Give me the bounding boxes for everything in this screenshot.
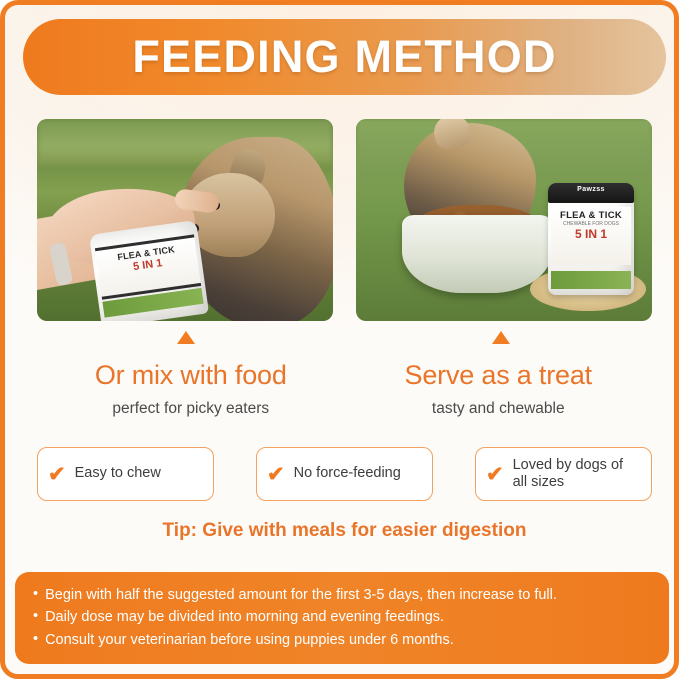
feature-chip-no-force-feeding: ✔ No force-feeding xyxy=(256,447,433,501)
jar-brand: Pawzss xyxy=(548,186,634,193)
subhead-mix-with-food: perfect for picky eaters xyxy=(37,400,345,418)
page-title: FEEDING METHOD xyxy=(132,31,556,83)
headline-column-right: Serve as a treat tasty and chewable xyxy=(345,360,653,418)
feature-chip-loved-by-dogs: ✔ Loved by dogs of all sizes xyxy=(475,447,652,501)
footer-note-line: • Consult your veterinarian before using… xyxy=(33,629,651,651)
feature-chip-label: No force-feeding xyxy=(294,465,401,482)
feeding-method-poster: FEEDING METHOD FLEA & TICK 5 IN 1 xyxy=(0,0,679,679)
headline-mix-with-food: Or mix with food xyxy=(37,360,345,391)
footer-note-line: • Daily dose may be divided into morning… xyxy=(33,606,651,628)
photo-row: FLEA & TICK 5 IN 1 Pawzss FLEA & TICK CH… xyxy=(37,119,652,321)
supplement-jar: FLEA & TICK 5 IN 1 xyxy=(89,220,209,321)
bullet-icon: • xyxy=(33,629,38,650)
bullet-icon: • xyxy=(33,584,38,605)
feature-chip-label: Loved by dogs of all sizes xyxy=(513,457,641,492)
check-icon: ✔ xyxy=(486,464,504,485)
feature-chip-easy-to-chew: ✔ Easy to chew xyxy=(37,447,214,501)
subhead-serve-as-treat: tasty and chewable xyxy=(345,400,653,418)
footer-note-line: • Begin with half the suggested amount f… xyxy=(33,584,651,606)
tip-text: Tip: Give with meals for easier digestio… xyxy=(5,520,679,542)
hand-feeding-photo: FLEA & TICK 5 IN 1 xyxy=(37,119,333,321)
footer-note-text: Begin with half the suggested amount for… xyxy=(45,584,557,606)
jar-label-line1: FLEA & TICK xyxy=(551,210,631,221)
check-icon: ✔ xyxy=(267,464,285,485)
headline-row: Or mix with food perfect for picky eater… xyxy=(37,360,652,418)
jar-lid: Pawzss xyxy=(548,183,634,203)
jar-label: FLEA & TICK CHEWABLE FOR DOGS 5 IN 1 xyxy=(551,207,631,265)
arrow-up-icon xyxy=(492,331,510,344)
footer-note-text: Daily dose may be divided into morning a… xyxy=(45,606,444,628)
feature-chip-label: Easy to chew xyxy=(75,465,161,482)
headline-column-left: Or mix with food perfect for picky eater… xyxy=(37,360,345,418)
footer-note-text: Consult your veterinarian before using p… xyxy=(45,629,454,651)
food-bowl xyxy=(402,215,552,293)
jar-green-band xyxy=(551,271,631,289)
supplement-jar: Pawzss FLEA & TICK CHEWABLE FOR DOGS 5 I… xyxy=(548,183,634,295)
bullet-icon: • xyxy=(33,606,38,627)
headline-serve-as-treat: Serve as a treat xyxy=(345,360,653,391)
header-banner: FEEDING METHOD xyxy=(23,19,666,95)
footer-notes: • Begin with half the suggested amount f… xyxy=(15,572,669,664)
jar-label-line3: 5 IN 1 xyxy=(551,227,631,241)
arrow-up-icon xyxy=(177,331,195,344)
check-icon: ✔ xyxy=(48,464,66,485)
feature-chip-row: ✔ Easy to chew ✔ No force-feeding ✔ Love… xyxy=(37,447,652,501)
dog-eating-bowl-photo: Pawzss FLEA & TICK CHEWABLE FOR DOGS 5 I… xyxy=(356,119,652,321)
